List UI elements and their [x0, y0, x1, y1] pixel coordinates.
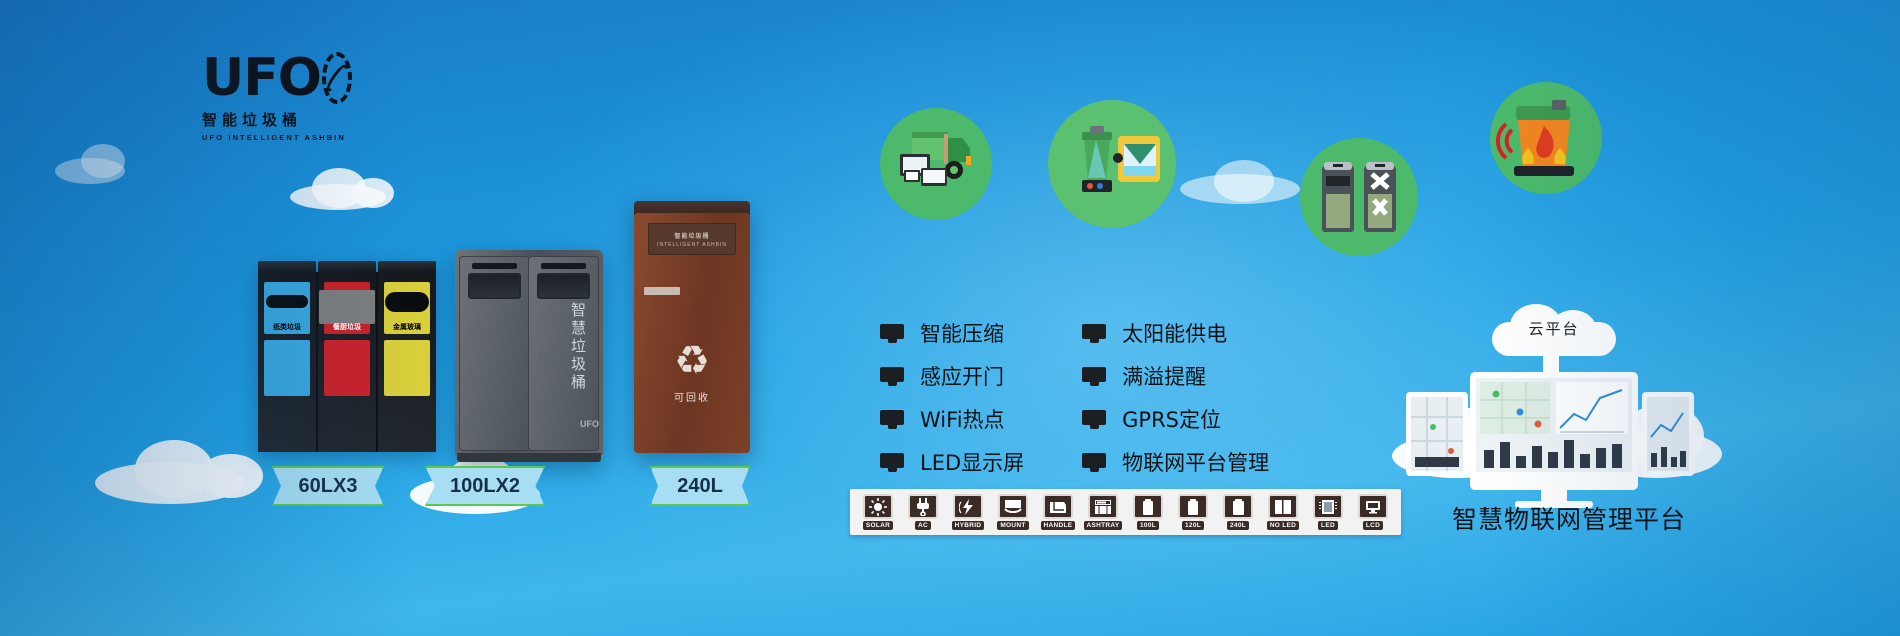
feature-label: 感应开门 [920, 361, 1004, 391]
feature-item: GPRS定位 [1082, 404, 1269, 434]
spec-icon-label: LCD [1363, 521, 1383, 530]
spec-icon-label: ASHTRAY [1084, 521, 1123, 530]
bin-graphic-metal-glass [384, 340, 430, 396]
lightning-bolt-icon [953, 494, 983, 519]
feature-label: 物联网平台管理 [1122, 447, 1269, 477]
feature-item: WiFi热点 [880, 404, 1024, 434]
bin-info-plate: 智能垃圾桶 INTELLIGENT ASHBIN [648, 223, 736, 255]
spec-icon-120l: 120L [1173, 494, 1213, 530]
garbage-truck-and-dashboard-icon [880, 108, 992, 220]
fire-alarm-bin-icon [1490, 82, 1602, 194]
bin-brand-mark: UFO [580, 419, 599, 429]
chart-thumbnail-icon [1647, 397, 1689, 471]
double-compartment-smart-bin: 智慧垃圾桶 UFO [455, 250, 603, 455]
single-recycle-bin: 智能垃圾桶 INTELLIGENT ASHBIN ♻ 可回收 [634, 213, 750, 453]
spec-icon-label: HANDLE [1041, 521, 1076, 530]
sun-icon [863, 494, 893, 519]
bin-panel-label: 金属玻璃 [393, 322, 421, 332]
no-led-icon [1268, 494, 1298, 519]
bin-slot-icon [319, 290, 375, 324]
spec-icon-label: NO LED [1267, 521, 1299, 530]
tablet-screen [1647, 397, 1689, 471]
bin-120l-icon [1178, 494, 1208, 519]
feature-item: LED显示屏 [880, 447, 1024, 477]
logo-wordmark: UFO [202, 52, 352, 104]
feature-item: 物联网平台管理 [1082, 447, 1269, 477]
bin-slot-icon [385, 292, 429, 312]
platform-title: 智慧物联网管理平台 [1404, 500, 1734, 536]
lcd-screen-icon [1358, 494, 1388, 519]
two-compacting-bins-icon [1300, 138, 1418, 256]
feature-label: WiFi热点 [920, 404, 1005, 434]
bin-compartment-metal-glass: 金属玻璃 [378, 272, 436, 452]
feature-label: 智能压缩 [920, 318, 1004, 348]
bin-lid [318, 261, 376, 273]
spec-icon-ac: AC [903, 494, 943, 530]
waste-sorting-circle [1048, 100, 1176, 228]
power-plug-icon [908, 494, 938, 519]
bin-side-label: 可回收 [634, 389, 750, 404]
spec-icon-100l: 100L [1128, 494, 1168, 530]
logo-english-name: UFO INTELLIGENT ASHBIN [202, 133, 352, 142]
spec-icon-label: SOLAR [863, 521, 893, 530]
bin-240l-icon [1223, 494, 1253, 519]
monitor-frame [1470, 372, 1638, 490]
compaction-circle [1300, 138, 1418, 256]
plate-title: 智能垃圾桶 [674, 231, 709, 240]
capacity-label: 100LX2 [450, 475, 520, 498]
monitor-icon [1082, 453, 1106, 472]
spec-icon-lcd: LCD [1353, 494, 1393, 530]
capacity-label: 60LX3 [299, 475, 358, 498]
logo-text: UFO [202, 52, 321, 104]
spec-icon-strip: SOLAR AC HYBRID MOUNT HANDLE [850, 489, 1401, 535]
bin-lid [378, 261, 436, 273]
feature-item: 智能压缩 [880, 318, 1024, 348]
dashboard-map-and-charts-icon [1476, 378, 1632, 472]
bin-to-container-transfer-icon [1048, 100, 1176, 228]
three-compartment-bin: 纸类垃圾 餐厨垃圾 金属玻璃 [258, 272, 436, 452]
feature-label: LED显示屏 [920, 447, 1024, 477]
feature-label: 太阳能供电 [1122, 318, 1227, 348]
map-thumbnail-icon [1411, 397, 1463, 471]
monitor-icon [1082, 410, 1106, 429]
feature-item: 太阳能供电 [1082, 318, 1269, 348]
bin-panel-metal-glass: 金属玻璃 [384, 282, 430, 334]
spec-icon-label: 120L [1182, 521, 1204, 530]
bin-side-text: 智慧垃圾桶 [568, 302, 589, 392]
spec-icon-mount: MOUNT [993, 494, 1033, 530]
feature-item: 满溢提醒 [1082, 361, 1269, 391]
led-bar-icon [541, 263, 586, 269]
bin-panel-label: 纸类垃圾 [273, 322, 301, 332]
bin-base [457, 453, 601, 462]
recycle-icon: ♻ [670, 341, 714, 381]
monitor-icon [1082, 367, 1106, 386]
monitor-screen [1476, 378, 1632, 472]
spec-icon-label: 100L [1137, 521, 1159, 530]
spec-icon-label: 240L [1227, 521, 1249, 530]
bin-panel-kitchen: 餐厨垃圾 [324, 282, 370, 334]
bin-compartment-kitchen: 餐厨垃圾 [318, 272, 378, 452]
fleet-monitoring-circle [880, 108, 992, 220]
capacity-ribbon-60lx3: 60LX3 [272, 466, 384, 506]
feature-column-right: 太阳能供电 满溢提醒 GPRS定位 物联网平台管理 [1082, 318, 1269, 477]
led-panel-icon [1313, 494, 1343, 519]
monitor-icon [880, 367, 904, 386]
logo-chinese-name: 智能垃圾桶 [202, 109, 352, 130]
bin-panel-paper: 纸类垃圾 [264, 282, 310, 334]
ring-o-icon [322, 52, 352, 104]
capacity-label: 240L [677, 475, 723, 498]
ashtray-icon [1088, 494, 1118, 519]
feature-column-left: 智能压缩 感应开门 WiFi热点 LED显示屏 [880, 318, 1024, 477]
tablet-right [1642, 392, 1694, 476]
upload-arrow-icon [1543, 352, 1559, 372]
spec-icon-ashtray: ASHTRAY [1083, 494, 1123, 530]
banner-stage: UFO 智能垃圾桶 UFO INTELLIGENT ASHBIN 纸类垃圾 餐厨… [0, 0, 1900, 636]
bin-compartment-paper: 纸类垃圾 [258, 272, 318, 452]
spec-icon-no-led: NO LED [1263, 494, 1303, 530]
bin-slot-icon [266, 295, 308, 308]
spec-icon-240l: 240L [1218, 494, 1258, 530]
spec-icon-led: LED [1308, 494, 1348, 530]
bin-card-reader-icon [644, 287, 680, 295]
monitor-icon [880, 410, 904, 429]
desktop-monitor [1470, 372, 1638, 490]
monitor-icon [880, 324, 904, 343]
bin-window [468, 273, 521, 299]
spec-icon-label: AC [915, 521, 931, 530]
tablet-left [1406, 392, 1468, 476]
bin-lid [258, 261, 316, 273]
bin-door-left [459, 256, 530, 451]
capacity-ribbon-100lx2: 100LX2 [425, 466, 545, 506]
spec-icon-label: MOUNT [997, 521, 1028, 530]
capacity-ribbon-240l: 240L [650, 466, 750, 506]
spec-icon-label: HYBRID [952, 521, 985, 530]
spec-icon-label: LED [1318, 521, 1338, 530]
feature-label: GPRS定位 [1122, 404, 1221, 434]
led-bar-icon [472, 263, 517, 269]
spec-icon-handle: HANDLE [1038, 494, 1078, 530]
feature-item: 感应开门 [880, 361, 1024, 391]
bin-panel-label: 餐厨垃圾 [333, 322, 361, 332]
feature-label: 满溢提醒 [1122, 361, 1206, 391]
monitor-icon [1082, 324, 1106, 343]
wall-mount-icon [998, 494, 1028, 519]
fire-alarm-circle [1490, 82, 1602, 194]
tablet-screen [1411, 397, 1463, 471]
cloud-platform-label: 云平台 [1492, 318, 1616, 339]
handle-icon [1043, 494, 1073, 519]
bin-graphic-kitchen [324, 340, 370, 396]
bin-100l-icon [1133, 494, 1163, 519]
feature-list: 智能压缩 感应开门 WiFi热点 LED显示屏 太阳能供电 满溢提醒 [880, 318, 1269, 477]
bin-window [537, 273, 590, 299]
monitor-icon [880, 453, 904, 472]
plate-subtitle: INTELLIGENT ASHBIN [657, 242, 727, 248]
brand-logo: UFO 智能垃圾桶 UFO INTELLIGENT ASHBIN [202, 52, 352, 152]
bin-graphic-paper [264, 340, 310, 396]
spec-icon-solar: SOLAR [858, 494, 898, 530]
spec-icon-hybrid: HYBRID [948, 494, 988, 530]
